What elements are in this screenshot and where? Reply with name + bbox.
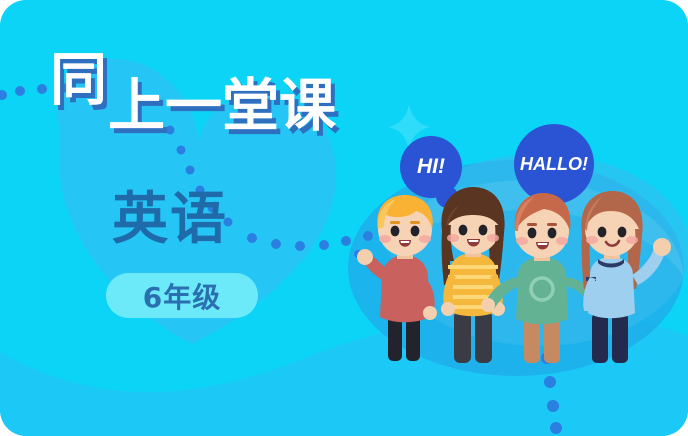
page-title-lead: 同 (50, 52, 107, 109)
speech-bubble-hi-text: HI! (417, 155, 445, 179)
kids-illustration (352, 185, 688, 365)
speech-bubble-hallo-text: HALLO! (520, 154, 588, 175)
grade-badge[interactable]: 6年级 (106, 273, 258, 318)
kids-illustration-svg (352, 185, 688, 365)
kid-girl-brown-bob (441, 187, 505, 363)
subject-label: 英语 (112, 192, 228, 248)
kid-boy-blond-waving (357, 195, 437, 361)
course-cover-card: 同 上一堂课 英语 6年级 HI! HALLO! (0, 0, 688, 436)
kid-girl-long-hair-waving (581, 191, 671, 363)
text-column: 同 上一堂课 英语 6年级 (0, 0, 360, 436)
page-title: 同 上一堂课 (50, 52, 350, 132)
page-title-rest: 上一堂课 (108, 78, 336, 135)
grade-badge-label: 6年级 (143, 276, 221, 316)
